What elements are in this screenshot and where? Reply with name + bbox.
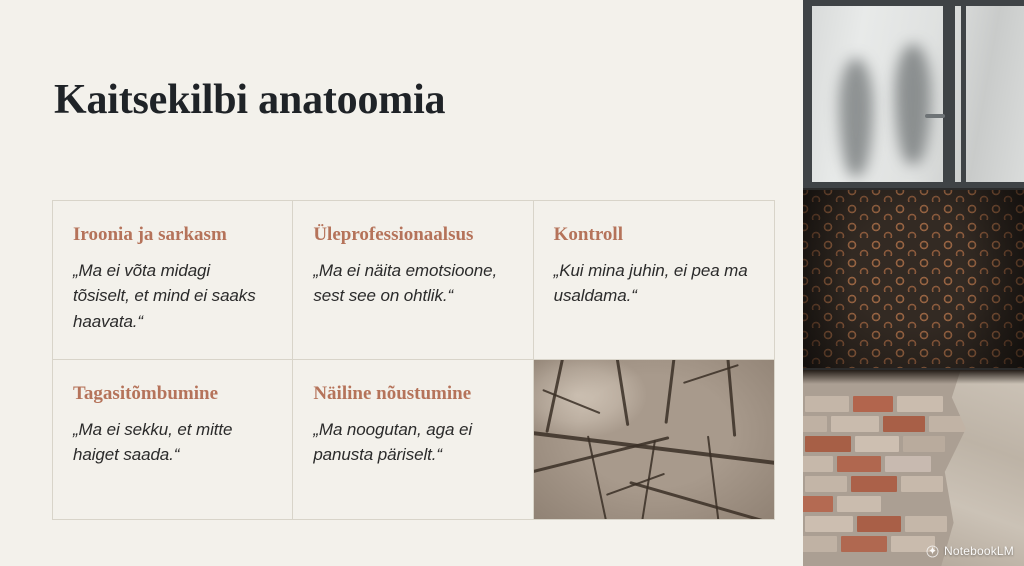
cell-heading: Tagasitõmbumine	[73, 384, 270, 405]
door-handle	[925, 114, 945, 118]
notebooklm-watermark: NotebookLM	[926, 544, 1014, 558]
cell-heading: Näiline nõustumine	[313, 384, 510, 405]
door-frame-mullion	[961, 0, 966, 188]
weathered-brick-wall-photo	[803, 370, 1024, 566]
table-cell-nailine-noustumine: Näiline nõustumine „Ma noogutan, aga ei …	[293, 360, 533, 519]
cell-quote: „Ma ei võta midagi tõsiselt, et mind ei …	[73, 258, 270, 335]
silhouette-person-left	[839, 58, 873, 176]
page-title: Kaitsekilbi anatoomia	[54, 76, 445, 124]
cell-heading: Kontroll	[554, 225, 752, 246]
notebooklm-watermark-label: NotebookLM	[944, 544, 1014, 558]
silhouette-person-right	[895, 44, 931, 164]
door-frame-left	[803, 0, 812, 188]
cell-heading: Iroonia ja sarkasm	[73, 225, 270, 246]
notebooklm-spark-icon	[926, 545, 939, 558]
cell-quote: „Kui mina juhin, ei pea ma usaldama.“	[554, 258, 752, 309]
frosted-glass-door-silhouettes-photo	[803, 0, 1024, 188]
table-cell-iroonia-ja-sarkasm: Iroonia ja sarkasm „Ma ei võta midagi tõ…	[53, 201, 293, 360]
defense-mechanisms-table: Iroonia ja sarkasm „Ma ei võta midagi tõ…	[52, 200, 775, 520]
slide-content-area: Kaitsekilbi anatoomia Iroonia ja sarkasm…	[0, 0, 803, 566]
slide-canvas: Kaitsekilbi anatoomia Iroonia ja sarkasm…	[0, 0, 1024, 566]
door-frame-top	[803, 0, 1024, 6]
chainmail-shading	[803, 190, 1024, 368]
table-cell-kontroll: Kontroll „Kui mina juhin, ei pea ma usal…	[534, 201, 774, 360]
cracked-dry-earth-photo	[534, 360, 774, 519]
photo-vignette	[534, 360, 774, 519]
cell-heading: Üleprofessionaalsus	[313, 225, 510, 246]
cell-quote: „Ma ei näita emotsioone, sest see on oht…	[313, 258, 510, 309]
image-sidebar: NotebookLM	[803, 0, 1024, 566]
door-frame-center	[943, 0, 955, 188]
table-cell-tagasitombumine: Tagasitõmbumine „Ma ei sekku, et mitte h…	[53, 360, 293, 519]
cell-quote: „Ma ei sekku, et mitte haiget saada.“	[73, 417, 270, 468]
door-frame-bottom	[803, 182, 1024, 188]
wall-top-shadow	[803, 370, 1024, 384]
cell-quote: „Ma noogutan, aga ei panusta päriselt.“	[313, 417, 510, 468]
rusty-chainmail-texture-photo	[803, 190, 1024, 368]
table-cell-uleprofessionaalsus: Üleprofessionaalsus „Ma ei näita emotsio…	[293, 201, 533, 360]
